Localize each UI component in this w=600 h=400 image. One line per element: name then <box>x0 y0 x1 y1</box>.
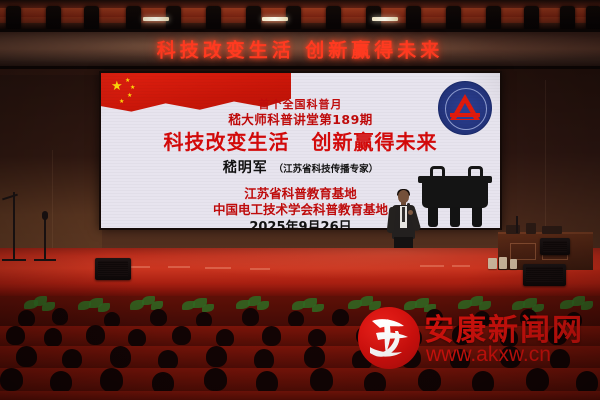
audience-head <box>288 311 304 327</box>
audience-head <box>6 326 25 345</box>
auditorium-photo: 科技改变生活 创新赢得未来 ★ ★ ★ ★ ★ <box>0 0 600 400</box>
audience-head <box>18 310 35 327</box>
stage-monitor-speaker <box>523 264 566 286</box>
floor-marking <box>250 268 270 270</box>
stage-monitor-speaker <box>95 258 131 280</box>
watermark-url: www.akxw.cn <box>426 343 551 367</box>
audience-head <box>150 309 167 326</box>
audience-head <box>62 349 82 369</box>
audience-head <box>172 326 191 345</box>
audience-head <box>216 329 234 347</box>
speaker-grille <box>526 267 563 283</box>
audience-head <box>242 308 259 326</box>
wall-seam <box>52 150 53 250</box>
audience-head <box>254 349 274 370</box>
floor-marking <box>168 266 190 268</box>
audience-head <box>100 368 123 392</box>
slide-title-part1: 科技改变生活 <box>164 130 290 154</box>
stage-monitor-speaker <box>540 238 570 255</box>
akxw-logo-icon <box>358 307 420 369</box>
fluorescent-tube-icon <box>262 17 288 21</box>
mic-stand-base <box>2 259 26 261</box>
audience-head <box>128 329 146 347</box>
slide-speaker-title: （江苏省科技传播专家） <box>274 164 379 175</box>
fluorescent-tube-icon <box>372 17 398 21</box>
slide-date: 2025年9月26日 <box>101 216 500 228</box>
audience-head <box>308 329 326 347</box>
audience-head <box>310 368 333 392</box>
floor-marking <box>205 267 231 269</box>
audience-head <box>44 328 62 347</box>
audience-seat-row <box>0 391 600 400</box>
audience-head <box>52 308 68 325</box>
audience-head <box>204 368 227 391</box>
venue-banner-text: 科技改变生活 创新赢得未来 <box>0 36 600 63</box>
speaker-grille <box>543 241 567 252</box>
speaker-grille <box>98 261 128 277</box>
floor-marking <box>420 265 444 267</box>
wall-seam <box>545 80 546 248</box>
banner-top-edge <box>0 29 600 32</box>
audience-head <box>86 325 105 345</box>
podium-panel <box>510 243 536 260</box>
slide-main-title: 科技改变生活创新赢得未来 <box>101 126 500 155</box>
audience-head <box>206 346 227 367</box>
slide-text-block: 首个全国科普月 嵇大师科普讲堂第189期 科技改变生活创新赢得未来 嵇明军 （江… <box>101 73 500 228</box>
presenter-tie <box>402 207 405 222</box>
stage-prop-item <box>510 259 517 269</box>
stage-prop-item <box>488 258 497 269</box>
wall-panel-left <box>0 75 102 255</box>
venue-led-banner: 科技改变生活 创新赢得未来 <box>0 29 600 69</box>
podium-gooseneck-mic <box>516 216 518 233</box>
fluorescent-tube-icon <box>143 17 169 21</box>
audience-head <box>0 368 23 391</box>
mic-stand-base <box>34 259 56 261</box>
microphone-stand <box>44 218 46 260</box>
floor-marking <box>452 265 470 267</box>
microphone-icon <box>42 211 48 220</box>
akxw-calligraphy-glyph <box>358 307 420 369</box>
microphone-stand <box>13 192 15 260</box>
audience-head <box>262 326 281 346</box>
podium-equipment <box>526 223 536 234</box>
slide-speaker-name: 嵇明军 <box>223 160 268 176</box>
slide-title-part2: 创新赢得未来 <box>312 130 438 154</box>
news-site-watermark: 安康新闻网 www.akxw.cn <box>358 303 594 375</box>
audience-head <box>158 350 178 370</box>
audience-head <box>110 346 131 368</box>
audience-head <box>16 346 37 367</box>
presenter-hand <box>408 210 413 215</box>
audience-head <box>50 371 72 393</box>
audience-head <box>304 346 325 368</box>
presentation-slide: ★ ★ ★ ★ ★ 首个全国科普月 嵇大师科普讲堂第189期 科技改变生活创新 <box>101 73 500 228</box>
audience-head <box>332 309 349 326</box>
stage-prop-item <box>499 257 507 269</box>
podium-equipment <box>542 226 562 234</box>
slide-speaker: 嵇明军 （江苏省科技传播专家） <box>101 157 500 177</box>
